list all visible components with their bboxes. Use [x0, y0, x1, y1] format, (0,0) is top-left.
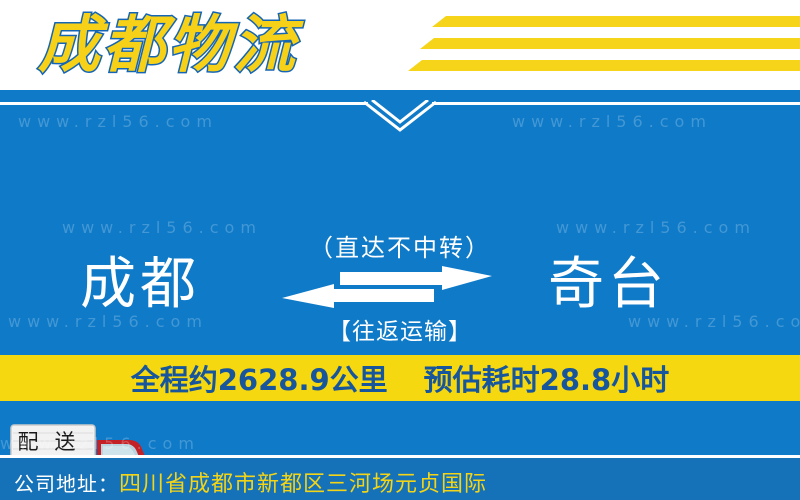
distance-stat: 全程约2628.9公里 [131, 357, 388, 399]
stripe-1 [432, 16, 800, 27]
decorative-stripes [420, 12, 800, 78]
stripe-3 [408, 60, 800, 71]
bidirectional-arrow-icon [282, 266, 492, 308]
logistics-banner: 成都物流 成都 奇台 （直达不中转） [0, 0, 800, 500]
chevron-down-icon [362, 100, 438, 134]
watermark: www.rzl56.com [512, 112, 712, 131]
watermark: www.rzl56.com [62, 218, 262, 237]
stripe-2 [420, 38, 800, 49]
banner-footer: 公司地址： 四川省成都市新都区三河场元贞国际 [0, 455, 800, 500]
divider-right-segment [432, 102, 800, 105]
watermark: www.rzl56.com [628, 312, 800, 331]
address-label: 公司地址： [14, 468, 119, 497]
stats-bar: 全程约2628.9公里 预估耗时28.8小时 [0, 355, 800, 401]
watermark: www.rzl56.com [556, 218, 756, 237]
watermark: www.rzl56.com [8, 312, 208, 331]
watermark: www.rzl56.com [0, 434, 200, 453]
banner-header: 成都物流 [0, 0, 800, 90]
watermark: www.rzl56.com [18, 112, 218, 131]
divider [0, 102, 800, 106]
route-panel: 成都 奇台 （直达不中转） 【往返运输】 全程约2628.9公里 预估耗时28.… [0, 90, 800, 455]
duration-stat: 预估耗时28.8小时 [424, 357, 670, 399]
address-value: 四川省成都市新都区三河场元贞国际 [119, 466, 487, 498]
page-title: 成都物流 [38, 2, 298, 88]
divider-left-segment [0, 102, 368, 105]
